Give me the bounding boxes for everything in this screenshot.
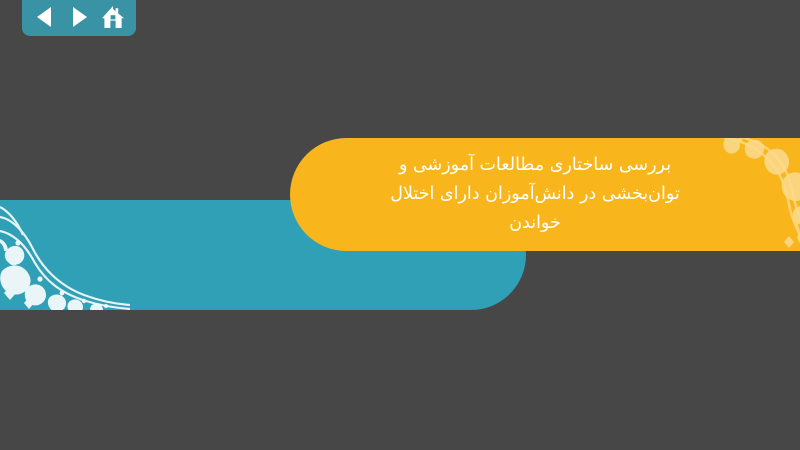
- home-button[interactable]: [99, 4, 127, 30]
- bottom-left-floral-ornament-icon: [0, 205, 130, 310]
- triangle-right-icon: [69, 6, 89, 28]
- triangle-left-icon: [35, 6, 55, 28]
- slide-canvas: بررسی ساختاری مطالعات آموزشی و توان‌بخشی…: [0, 0, 800, 450]
- previous-slide-button[interactable]: [31, 4, 59, 30]
- yellow-title-panel: [290, 138, 800, 251]
- top-right-floral-ornament-icon: [650, 138, 800, 251]
- home-icon: [101, 6, 125, 29]
- slide-navigation-bar: [22, 0, 136, 36]
- next-slide-button[interactable]: [65, 4, 93, 30]
